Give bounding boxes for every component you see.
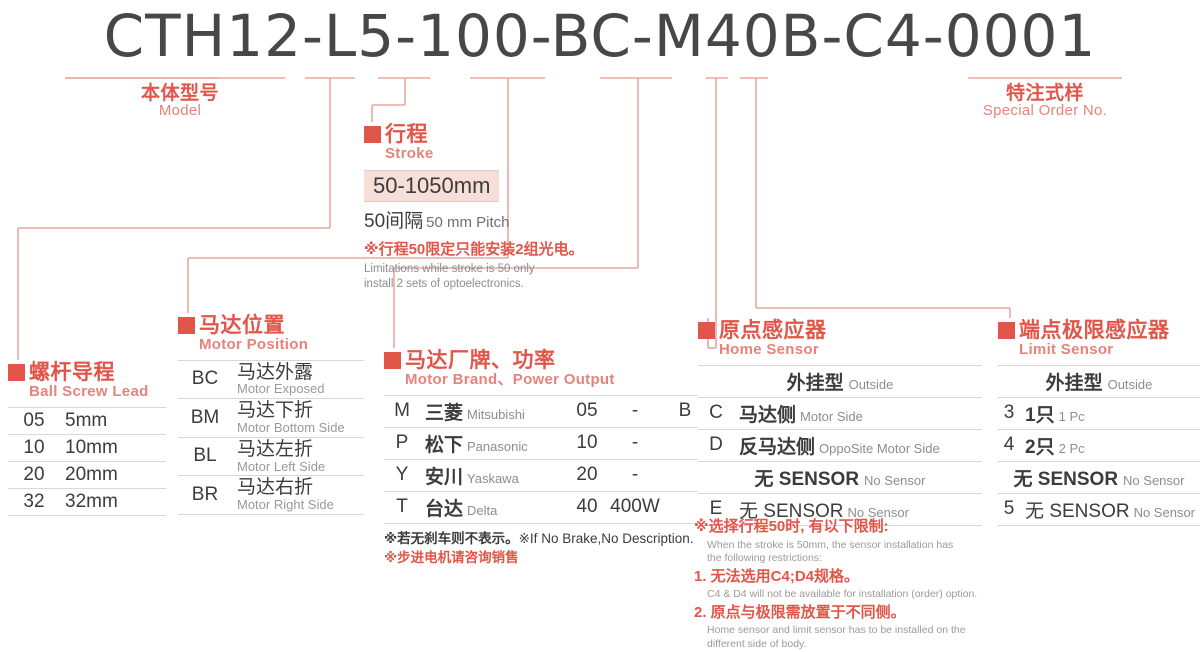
motor-position-desc: 马达下折 Motor Bottom Side	[232, 399, 364, 438]
lead-code: 10	[8, 434, 60, 461]
ball-screw-lead-heading: 螺杆导程	[8, 362, 166, 383]
motor-brand-heading: 马达厂牌、功率	[384, 350, 704, 371]
special-order-title-cn: 特注式样	[940, 84, 1150, 103]
stroke-pitch-cn: 50间隔	[364, 211, 423, 232]
motor-position-desc: 马达左折 Motor Left Side	[232, 437, 364, 476]
power-code: 05	[570, 395, 604, 427]
motor-position-desc-cn: 马达外露	[237, 363, 359, 383]
footnote-item1-en: C4 & D4 will not be available for instal…	[707, 588, 977, 602]
brand-name-cn: 松下	[425, 435, 463, 456]
brand-code: M	[384, 395, 420, 427]
home-sensor-desc-en: OppoSite Motor Side	[819, 441, 940, 456]
limit-sensor-desc-en: 1 Pc	[1059, 409, 1085, 424]
footnote-item2-en-line1: Home sensor and limit sensor has to be i…	[707, 624, 977, 638]
motor-position-desc-cn: 马达右折	[237, 478, 359, 498]
motor-position-desc-en: Motor Right Side	[237, 498, 359, 512]
section-special-order: 特注式样 Special Order No.	[940, 84, 1150, 120]
power-code: 20	[570, 459, 604, 491]
lead-code: 20	[8, 461, 60, 488]
motor-position-desc-en: Motor Bottom Side	[237, 421, 359, 435]
brand-code: T	[384, 491, 420, 523]
home-sensor-group-outside-cn: 外挂型	[787, 373, 844, 394]
footnote-item2-cn: 2. 原点与极限需放置于不同侧。	[694, 602, 977, 625]
special-order-title-en: Special Order No.	[940, 103, 1150, 120]
brand-name: 三菱Mitsubishi	[420, 395, 570, 427]
home-sensor-heading: 原点感应器	[698, 320, 982, 341]
footnote-title-en-line2: the following restrictions:	[707, 552, 977, 566]
footnote-item1-cn: 1. 无法选用C4;D4规格。	[694, 566, 977, 589]
table-row: 32 32mm	[8, 488, 166, 515]
stroke-range-value: 50-1050mm	[364, 170, 499, 202]
lead-code: 05	[8, 407, 60, 434]
stroke-title-en: Stroke	[385, 146, 584, 163]
motor-brand-note-1: ※若无刹车则不表示。※If No Brake,No Description.	[384, 529, 704, 549]
limit-sensor-title-en: Limit Sensor	[1019, 342, 1200, 359]
brand-name-en: Mitsubishi	[467, 407, 525, 422]
section-motor-position: 马达位置 Motor Position BC 马达外露 Motor Expose…	[178, 315, 364, 515]
motor-brand-note-1-cn: ※若无刹车则不表示。	[384, 531, 519, 546]
stroke-pitch-en: 50 mm Pitch	[426, 214, 509, 231]
brand-name-cn: 安川	[425, 467, 463, 488]
limit-sensor-group-nosensor: 无 SENSORNo Sensor	[998, 461, 1200, 493]
lead-value: 5mm	[60, 407, 166, 434]
motor-position-desc-en: Motor Left Side	[237, 460, 359, 474]
power-value: -	[604, 459, 666, 491]
table-row: C 马达侧Motor Side	[698, 397, 982, 429]
limit-sensor-title-cn: 端点极限感应器	[1019, 320, 1170, 341]
limit-sensor-code: 5	[998, 493, 1020, 525]
table-row: T 台达Delta 40 400W	[384, 491, 704, 523]
stroke-pitch: 50间隔50 mm Pitch	[364, 206, 584, 233]
table-row: BM 马达下折 Motor Bottom Side	[178, 399, 364, 438]
motor-brand-table: M 三菱Mitsubishi 05 - B P 松下Panasonic 10 -	[384, 395, 704, 524]
power-code: 40	[570, 491, 604, 523]
limit-sensor-desc-en: No Sensor	[1134, 505, 1195, 520]
brand-name: 台达Delta	[420, 491, 570, 523]
stroke-heading: 行程	[364, 124, 584, 145]
home-sensor-group-nosensor: 无 SENSORNo Sensor	[698, 461, 982, 493]
motor-brand-title-cn: 马达厂牌、功率	[405, 350, 556, 371]
home-sensor-table: 外挂型Outside C 马达侧Motor Side D 反马达侧OppoSit…	[698, 365, 982, 526]
ball-screw-lead-title-cn: 螺杆导程	[29, 362, 115, 383]
motor-brand-footnotes: ※若无刹车则不表示。※If No Brake,No Description. ※…	[384, 529, 704, 568]
stroke-note-en-line2: install 2 sets of optoelectronics.	[364, 277, 584, 293]
model-title-cn: 本体型号	[105, 84, 255, 103]
limit-sensor-code: 3	[998, 397, 1020, 429]
motor-position-code: BM	[178, 399, 232, 438]
table-row: 10 10mm	[8, 434, 166, 461]
limit-sensor-desc: 1只1 Pc	[1020, 397, 1200, 429]
home-sensor-desc: 反马达侧OppoSite Motor Side	[734, 429, 982, 461]
table-group-header-row: 外挂型Outside	[998, 365, 1200, 397]
brand-name-en: Yaskawa	[467, 471, 519, 486]
lead-code: 32	[8, 488, 60, 515]
stroke-title-cn: 行程	[385, 124, 428, 145]
limit-sensor-group-outside: 外挂型Outside	[998, 365, 1200, 397]
home-sensor-code: D	[698, 429, 734, 461]
brand-name: 松下Panasonic	[420, 427, 570, 459]
limit-sensor-desc-en: 2 Pc	[1059, 441, 1085, 456]
bullet-square-icon	[364, 126, 381, 143]
footnote-title-en-line1: When the stroke is 50mm, the sensor inst…	[707, 539, 977, 553]
limit-sensor-group-outside-en: Outside	[1108, 377, 1153, 392]
stroke-note-cn: ※行程50限定只能安装2组光电。	[364, 238, 584, 259]
limit-sensor-desc-cn: 无 SENSOR	[1025, 501, 1130, 522]
brand-name: 安川Yaskawa	[420, 459, 570, 491]
table-row: P 松下Panasonic 10 -	[384, 427, 704, 459]
table-row: M 三菱Mitsubishi 05 - B	[384, 395, 704, 427]
bullet-square-icon	[8, 364, 25, 381]
lead-value: 20mm	[60, 461, 166, 488]
table-group-header-row: 外挂型Outside	[698, 365, 982, 397]
section-limit-sensor: 端点极限感应器 Limit Sensor 外挂型Outside 3 1只1 Pc…	[998, 320, 1200, 526]
bullet-square-icon	[178, 317, 195, 334]
home-sensor-group-nosensor-cn: 无 SENSOR	[755, 469, 860, 490]
motor-position-title-cn: 马达位置	[199, 315, 285, 336]
home-sensor-group-nosensor-en: No Sensor	[864, 473, 925, 488]
home-sensor-group-outside: 外挂型Outside	[698, 365, 982, 397]
power-value: -	[604, 427, 666, 459]
motor-position-table: BC 马达外露 Motor Exposed BM 马达下折 Motor Bott…	[178, 360, 364, 515]
power-value: -	[604, 395, 666, 427]
table-row: BL 马达左折 Motor Left Side	[178, 437, 364, 476]
home-sensor-title-en: Home Sensor	[719, 342, 982, 359]
home-sensor-title-cn: 原点感应器	[719, 320, 827, 341]
ball-screw-lead-title-en: Ball Screw Lead	[29, 384, 166, 401]
home-sensor-desc-cn: 反马达侧	[739, 437, 815, 458]
table-row: 20 20mm	[8, 461, 166, 488]
table-row: 3 1只1 Pc	[998, 397, 1200, 429]
motor-position-desc: 马达外露 Motor Exposed	[232, 360, 364, 399]
model-title-en: Model	[105, 103, 255, 120]
table-row: 5 无 SENSORNo Sensor	[998, 493, 1200, 525]
motor-position-heading: 马达位置	[178, 315, 364, 336]
home-sensor-code: C	[698, 397, 734, 429]
motor-position-code: BR	[178, 476, 232, 515]
limit-sensor-group-outside-cn: 外挂型	[1046, 373, 1103, 394]
table-row: D 反马达侧OppoSite Motor Side	[698, 429, 982, 461]
table-row: BC 马达外露 Motor Exposed	[178, 360, 364, 399]
bullet-square-icon	[384, 352, 401, 369]
home-sensor-desc: 马达侧Motor Side	[734, 397, 982, 429]
table-group-header-row: 无 SENSORNo Sensor	[698, 461, 982, 493]
table-group-header-row: 无 SENSORNo Sensor	[998, 461, 1200, 493]
section-ball-screw-lead: 螺杆导程 Ball Screw Lead 05 5mm 10 10mm 20 2…	[8, 362, 166, 516]
motor-position-desc-en: Motor Exposed	[237, 382, 359, 396]
limit-sensor-desc-cn: 2只	[1025, 437, 1055, 458]
limit-sensor-table: 外挂型Outside 3 1只1 Pc 4 2只2 Pc	[998, 365, 1200, 526]
section-motor-brand: 马达厂牌、功率 Motor Brand、Power Output M 三菱Mit…	[384, 350, 704, 568]
footnote-title-cn: ※选择行程50时, 有以下限制:	[694, 516, 977, 539]
motor-position-desc-cn: 马达左折	[237, 440, 359, 460]
section-stroke: 行程 Stroke 50-1050mm 50间隔50 mm Pitch ※行程5…	[364, 124, 584, 293]
limit-sensor-heading: 端点极限感应器	[998, 320, 1200, 341]
brand-name-cn: 三菱	[425, 403, 463, 424]
power-value: 400W	[604, 491, 666, 523]
motor-position-title-en: Motor Position	[199, 337, 364, 354]
table-row: 05 5mm	[8, 407, 166, 434]
motor-position-code: BC	[178, 360, 232, 399]
table-row: BR 马达右折 Motor Right Side	[178, 476, 364, 515]
home-sensor-desc-en: Motor Side	[800, 409, 863, 424]
motor-brand-title-en: Motor Brand、Power Output	[405, 372, 704, 389]
motor-position-desc-cn: 马达下折	[237, 401, 359, 421]
motor-brand-note-1-en: ※If No Brake,No Description.	[519, 531, 694, 546]
table-row: 4 2只2 Pc	[998, 429, 1200, 461]
table-row: Y 安川Yaskawa 20 -	[384, 459, 704, 491]
home-sensor-desc-cn: 马达侧	[739, 405, 796, 426]
footnote-item2-en-line2: different side of body.	[707, 638, 977, 652]
motor-brand-note-2: ※步进电机请咨询销售	[384, 548, 704, 568]
home-sensor-group-outside-en: Outside	[849, 377, 894, 392]
ordering-code-diagram: CTH12-L5-100-BC-M40B-C4-0001	[0, 0, 1200, 605]
brand-name-en: Delta	[467, 503, 497, 518]
home-sensor-footnote: ※选择行程50时, 有以下限制: When the stroke is 50mm…	[694, 516, 977, 652]
limit-sensor-desc: 无 SENSORNo Sensor	[1020, 493, 1200, 525]
brand-code: P	[384, 427, 420, 459]
section-model: 本体型号 Model	[105, 84, 255, 120]
bullet-square-icon	[698, 322, 715, 339]
stroke-note-en-line1: Limitations while stroke is 50 only	[364, 262, 584, 278]
motor-position-desc: 马达右折 Motor Right Side	[232, 476, 364, 515]
limit-sensor-group-nosensor-cn: 无 SENSOR	[1014, 469, 1119, 490]
lead-value: 10mm	[60, 434, 166, 461]
limit-sensor-desc-cn: 1只	[1025, 405, 1055, 426]
limit-sensor-desc: 2只2 Pc	[1020, 429, 1200, 461]
motor-position-code: BL	[178, 437, 232, 476]
brand-code: Y	[384, 459, 420, 491]
limit-sensor-code: 4	[998, 429, 1020, 461]
limit-sensor-group-nosensor-en: No Sensor	[1123, 473, 1184, 488]
brand-name-en: Panasonic	[467, 439, 528, 454]
ball-screw-lead-table: 05 5mm 10 10mm 20 20mm 32 32mm	[8, 407, 166, 516]
section-home-sensor: 原点感应器 Home Sensor 外挂型Outside C 马达侧Motor …	[698, 320, 982, 526]
bullet-square-icon	[998, 322, 1015, 339]
lead-value: 32mm	[60, 488, 166, 515]
brand-name-cn: 台达	[425, 499, 463, 520]
power-code: 10	[570, 427, 604, 459]
